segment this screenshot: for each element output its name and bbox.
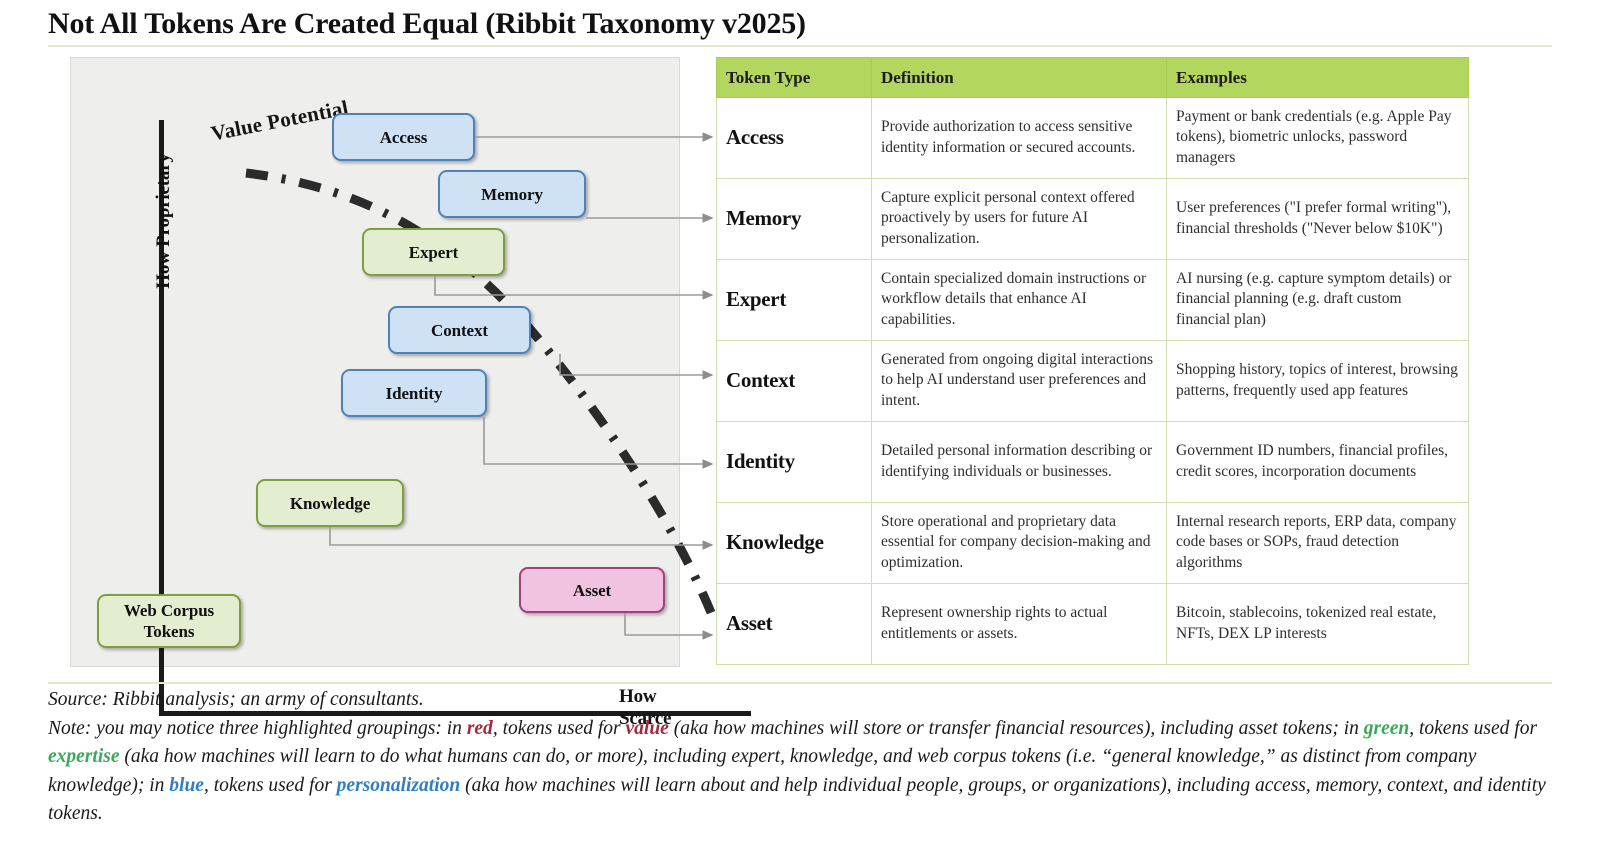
node-label: Access: [380, 127, 428, 148]
cell-token-type: Expert: [717, 260, 872, 341]
cell-examples: Bitcoin, stablecoins, tokenized real est…: [1167, 584, 1469, 665]
cell-token-type: Context: [717, 341, 872, 422]
cell-examples: Payment or bank credentials (e.g. Apple …: [1167, 98, 1469, 179]
node-expert: Expert: [362, 228, 505, 276]
cell-definition: Capture explicit personal context offere…: [872, 179, 1167, 260]
cell-definition: Store operational and proprietary data e…: [872, 503, 1167, 584]
keyword-green: green: [1364, 718, 1410, 739]
cell-examples: User preferences ("I prefer formal writi…: [1167, 179, 1469, 260]
node-asset: Asset: [519, 567, 665, 613]
footnote-divider: [48, 682, 1552, 684]
y-axis-label: How Proprietary: [153, 121, 175, 321]
note-seg-2: , tokens used for: [493, 718, 626, 739]
node-label: Knowledge: [290, 493, 370, 514]
keyword-red: red: [467, 718, 493, 739]
node-label: Identity: [386, 383, 443, 404]
keyword-blue: blue: [169, 775, 204, 796]
cell-definition: Provide authorization to access sensitiv…: [872, 98, 1167, 179]
source-note: Source: Ribbit analysis; an army of cons…: [48, 686, 1568, 715]
cell-definition: Represent ownership rights to actual ent…: [872, 584, 1167, 665]
table-row[interactable]: Identity Detailed personal information d…: [717, 422, 1469, 503]
node-label: Web Corpus Tokens: [124, 600, 214, 642]
cell-token-type: Memory: [717, 179, 872, 260]
taxonomy-table: Token Type Definition Examples Access Pr…: [716, 57, 1469, 665]
node-label: Asset: [573, 580, 611, 601]
cell-definition: Detailed personal information describing…: [872, 422, 1167, 503]
cell-token-type: Identity: [717, 422, 872, 503]
node-web-corpus-tokens: Web Corpus Tokens: [97, 594, 241, 648]
keyword-personalization: personalization: [337, 775, 461, 796]
cell-examples: Shopping history, topics of interest, br…: [1167, 341, 1469, 422]
cell-token-type: Access: [717, 98, 872, 179]
table-row[interactable]: Context Generated from ongoing digital i…: [717, 341, 1469, 422]
note-text-prefix: Note: you may notice three highlighted g…: [48, 718, 467, 739]
node-label: Memory: [481, 184, 543, 205]
column-header-token-type[interactable]: Token Type: [717, 58, 872, 98]
note-seg-6: , tokens used for: [204, 775, 337, 796]
table-row[interactable]: Knowledge Store operational and propriet…: [717, 503, 1469, 584]
node-identity: Identity: [341, 369, 487, 417]
cell-token-type: Knowledge: [717, 503, 872, 584]
table-row[interactable]: Expert Contain specialized domain instru…: [717, 260, 1469, 341]
column-header-definition[interactable]: Definition: [872, 58, 1167, 98]
node-memory: Memory: [438, 170, 586, 218]
keyword-expertise: expertise: [48, 746, 119, 767]
table-header-row: Token Type Definition Examples: [717, 58, 1469, 98]
table-row[interactable]: Access Provide authorization to access s…: [717, 98, 1469, 179]
cell-examples: Internal research reports, ERP data, com…: [1167, 503, 1469, 584]
note-seg-4: , tokens used for: [1409, 718, 1537, 739]
node-context: Context: [388, 306, 531, 354]
keyword-value: value: [626, 718, 669, 739]
footnotes: Source: Ribbit analysis; an army of cons…: [48, 686, 1568, 829]
note-seg-3: (aka how machines will store or transfer…: [669, 718, 1364, 739]
node-label: Context: [431, 320, 488, 341]
table-row[interactable]: Asset Represent ownership rights to actu…: [717, 584, 1469, 665]
cell-token-type: Asset: [717, 584, 872, 665]
table-row[interactable]: Memory Capture explicit personal context…: [717, 179, 1469, 260]
cell-examples: Government ID numbers, financial profile…: [1167, 422, 1469, 503]
page-title: Not All Tokens Are Created Equal (Ribbit…: [48, 6, 1552, 42]
value-potential-label: Value Potential: [209, 95, 351, 146]
title-divider: [48, 45, 1552, 47]
cell-definition: Contain specialized domain instructions …: [872, 260, 1167, 341]
cell-definition: Generated from ongoing digital interacti…: [872, 341, 1167, 422]
cell-examples: AI nursing (e.g. capture symptom details…: [1167, 260, 1469, 341]
node-label: Expert: [409, 242, 458, 263]
node-access: Access: [332, 113, 475, 161]
column-header-examples[interactable]: Examples: [1167, 58, 1469, 98]
title-bar: Not All Tokens Are Created Equal (Ribbit…: [48, 6, 1552, 46]
node-knowledge: Knowledge: [256, 479, 404, 527]
